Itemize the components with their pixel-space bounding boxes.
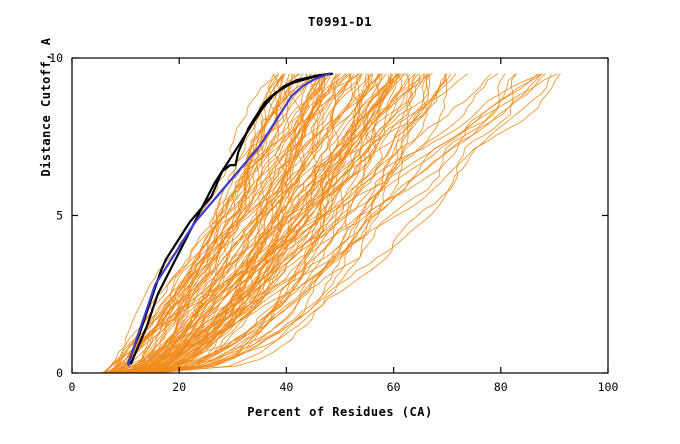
y-tick-label: 10 [49, 51, 63, 65]
y-tick-label: 5 [56, 209, 63, 223]
chart-container: T0991-D1 Distance Cutoff, A Percent of R… [0, 0, 680, 440]
y-tick-label: 0 [56, 366, 63, 380]
prediction-curve [102, 74, 381, 373]
prediction-curve [107, 74, 542, 373]
plot-area: 0204060801000510 [0, 0, 680, 444]
x-tick-label: 80 [494, 380, 508, 394]
prediction-curve [126, 74, 371, 373]
prediction-curves-group [100, 74, 560, 373]
x-tick-label: 100 [598, 380, 619, 394]
x-tick-label: 0 [69, 380, 76, 394]
x-tick-label: 20 [172, 380, 186, 394]
x-tick-label: 40 [279, 380, 293, 394]
x-tick-label: 60 [387, 380, 401, 394]
